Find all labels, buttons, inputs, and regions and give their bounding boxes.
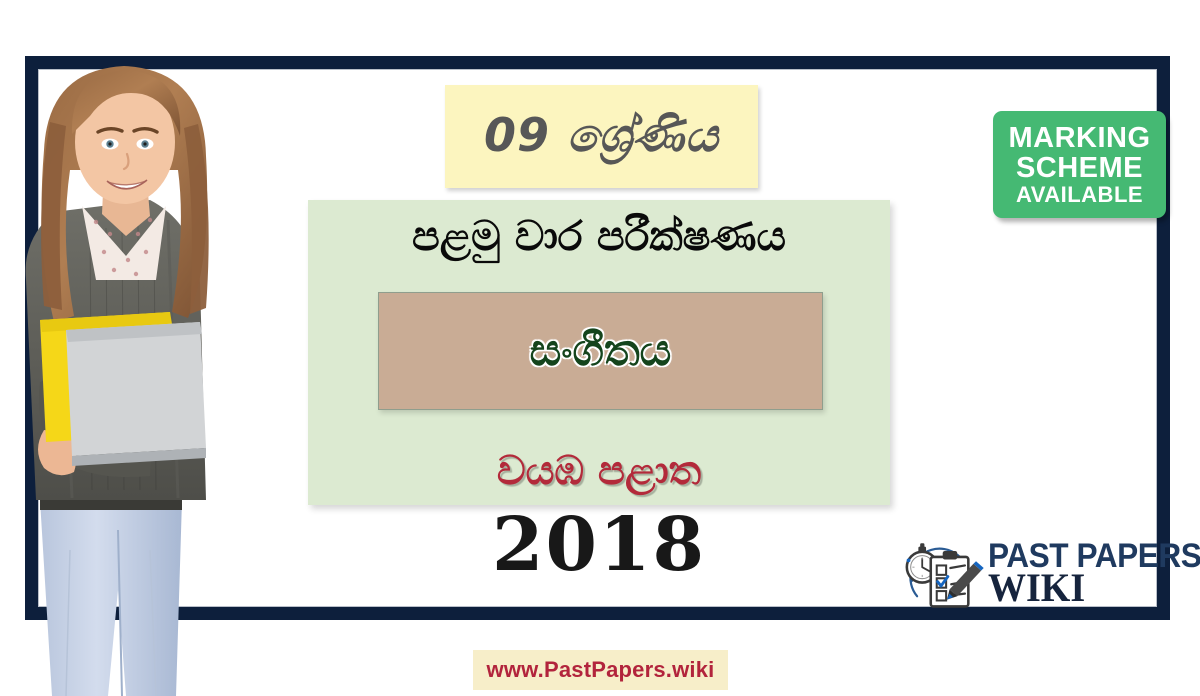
exam-title: පළමු වාර පරීක්ෂණය [308, 214, 890, 259]
marking-scheme-line-1: MARKING [1008, 124, 1150, 154]
clipboard-stopwatch-pencil-icon [898, 533, 984, 615]
logo-line-2: WIKI [988, 571, 1200, 605]
subject-label: සංගීතය [530, 326, 672, 377]
cover-page: 09 ශ්‍රේණිය පළමු වාර පරීක්ෂණය සංගීතය වයඹ… [0, 0, 1200, 696]
grade-banner: 09 ශ්‍රේණිය [445, 85, 758, 188]
student-photo [0, 30, 250, 696]
exam-year: 2018 [308, 508, 890, 582]
exam-info-panel: පළමු වාර පරීක්ෂණය සංගීතය වයඹ පළාත [308, 200, 890, 505]
website-url-text: www.PastPapers.wiki [487, 657, 715, 683]
subject-box: සංගීතය [378, 292, 823, 410]
student-photo-illustration [0, 30, 250, 696]
marking-scheme-line-3: AVAILABLE [1016, 184, 1143, 207]
grade-label: 09 ශ්‍රේණිය [484, 112, 719, 162]
logo-wordmark: PAST PAPERS WIKI [988, 542, 1200, 606]
marking-scheme-line-2: SCHEME [1016, 154, 1143, 184]
marking-scheme-badge[interactable]: MARKING SCHEME AVAILABLE [993, 111, 1166, 218]
website-url-banner[interactable]: www.PastPapers.wiki [473, 650, 728, 690]
province-label: වයඹ පළාත [308, 449, 890, 493]
past-papers-wiki-logo[interactable]: PAST PAPERS WIKI [898, 533, 1173, 615]
